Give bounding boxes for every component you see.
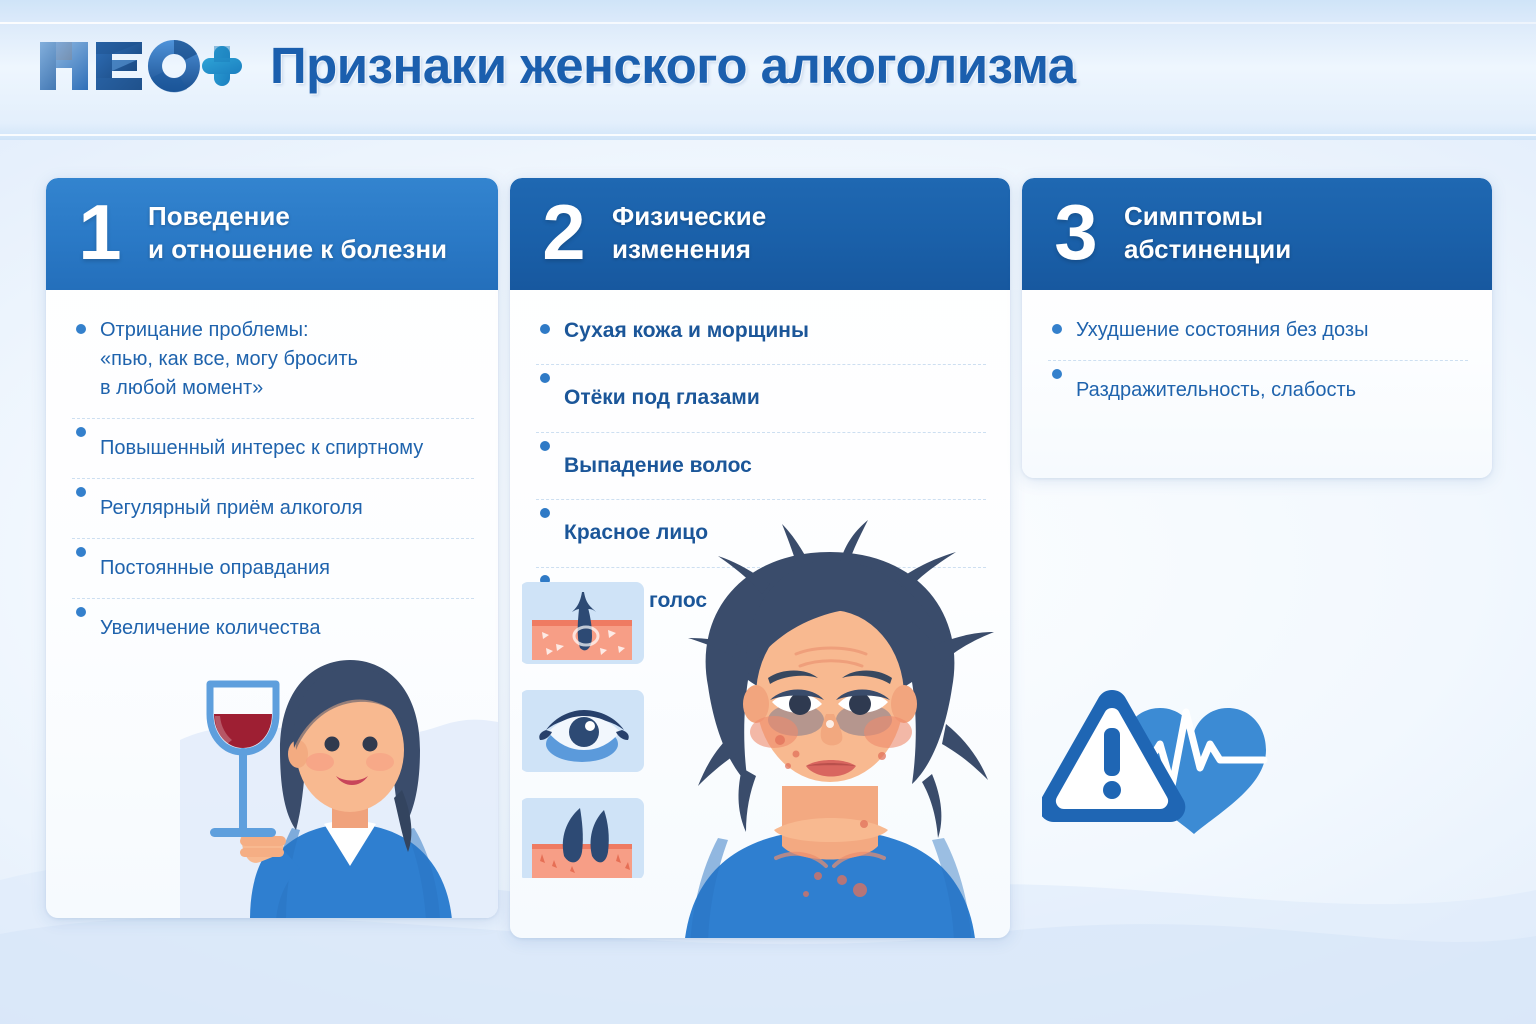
list-item-text: Выпадение волос (564, 451, 986, 481)
list-item-text: Ухудшение состояния без дозы (1076, 316, 1468, 345)
card-3-title-line2: абстиненции (1124, 233, 1291, 266)
bullet-icon (540, 441, 550, 451)
card-1-title-line1: Поведение (148, 201, 290, 231)
card-column-2: 2 Физические изменения Сухая кожа и морщ… (510, 178, 1010, 938)
bullet-icon (540, 373, 550, 383)
list-item-text: Сухая кожа и морщины (564, 316, 986, 346)
list-item-text: Регулярный приём алкоголя (100, 494, 474, 523)
list-item: Сухая кожа и морщины (536, 316, 986, 346)
list-item-text: Раздражительность, слабость (1076, 376, 1468, 405)
list-item: Ухудшение состояния без дозы (1048, 316, 1468, 345)
bullet-icon (76, 427, 86, 437)
list-item: Повышенный интерес к спиртному (72, 418, 474, 463)
card-column-1: 1 Поведение и отношение к болезни Отрица… (46, 178, 498, 918)
card-1-header: 1 Поведение и отношение к болезни (46, 178, 498, 290)
card-column-3: 3 Симптомы абстиненции Ухудшение состоян… (1022, 178, 1492, 478)
card-1-number: 1 (72, 201, 128, 265)
card-2-header: 2 Физические изменения (510, 178, 1010, 290)
bullet-icon (1052, 369, 1062, 379)
header-band: Признаки женского алкоголизма (0, 0, 1536, 140)
list-item-text: Отрицание проблемы: (100, 316, 474, 345)
card-1-title-line2: и отношение к болезни (148, 233, 447, 266)
list-item: Раздражительность, слабость (1048, 360, 1468, 405)
bullet-icon (76, 607, 86, 617)
infographic-canvas: Признаки женского алкоголизма 1 Поведени… (0, 0, 1536, 1024)
list-item: Отрицание проблемы: «пью, как все, могу … (72, 316, 474, 403)
bullet-icon (76, 547, 86, 557)
card-behavior: 1 Поведение и отношение к болезни Отрица… (46, 178, 498, 918)
card-1-title: Поведение и отношение к болезни (148, 200, 447, 267)
hair-follicle-loss-icon (522, 798, 644, 878)
card-physical: 2 Физические изменения Сухая кожа и морщ… (510, 178, 1010, 938)
woman-with-wine-glass-illustration (180, 630, 498, 918)
eye-with-dark-circle-icon (522, 690, 644, 772)
bullet-icon (76, 324, 86, 334)
card-3-title: Симптомы абстиненции (1124, 200, 1291, 267)
symptom-icon-stack (522, 578, 652, 878)
list-item-text: Отёки под глазами (564, 383, 986, 413)
list-item-subtext: в любой момент» (100, 374, 474, 403)
tired-woman-illustration (650, 518, 1010, 938)
bullet-icon (76, 487, 86, 497)
bullet-icon (1052, 324, 1062, 334)
page-title: Признаки женского алкоголизма (270, 40, 1076, 91)
card-1-list: Отрицание проблемы: «пью, как все, могу … (46, 290, 498, 653)
card-3-title-line1: Симптомы (1124, 201, 1263, 231)
list-item: Постоянные оправдания (72, 538, 474, 583)
list-item-text: Повышенный интерес к спиртному (100, 434, 474, 463)
warning-and-heartbeat-illustration (1042, 682, 1322, 842)
card-3-number: 3 (1048, 201, 1104, 265)
card-2-number: 2 (536, 201, 592, 265)
neo-plus-logo[interactable] (38, 34, 244, 96)
list-item: Отёки под глазами (536, 364, 986, 413)
card-2-title-line2: изменения (612, 233, 766, 266)
list-item: Выпадение волос (536, 432, 986, 481)
card-2-title-line1: Физические (612, 201, 766, 231)
card-2-title: Физические изменения (612, 200, 766, 267)
header-inner: Признаки женского алкоголизма (38, 34, 1076, 96)
card-3-list: Ухудшение состояния без дозы Раздражител… (1022, 290, 1492, 415)
list-item-text: Постоянные оправдания (100, 554, 474, 583)
skin-cross-section-icon (522, 582, 644, 664)
list-item-subtext: «пью, как все, могу бросить (100, 345, 474, 374)
bullet-icon (540, 324, 550, 334)
card-withdrawal: 3 Симптомы абстиненции Ухудшение состоян… (1022, 178, 1492, 478)
bullet-icon (540, 508, 550, 518)
card-3-header: 3 Симптомы абстиненции (1022, 178, 1492, 290)
list-item: Регулярный приём алкоголя (72, 478, 474, 523)
